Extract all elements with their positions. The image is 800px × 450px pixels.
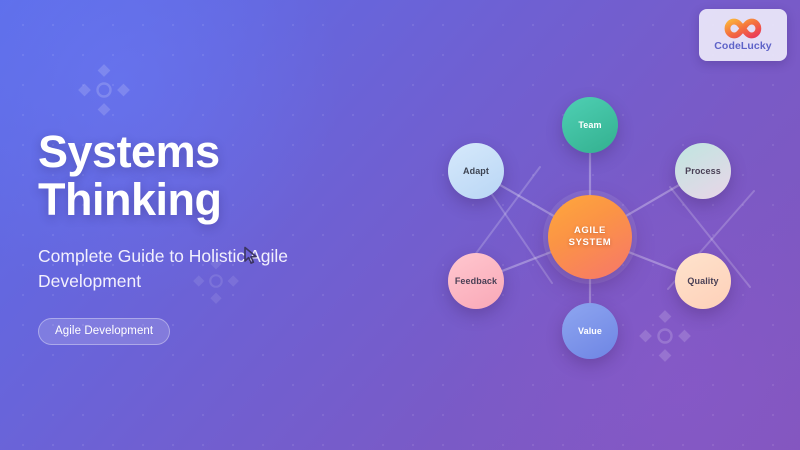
- topic-tag-badge[interactable]: Agile Development: [38, 318, 170, 345]
- node-label-value: Value: [578, 325, 602, 337]
- node-label-quality: Quality: [687, 275, 718, 287]
- diagram-node-team[interactable]: Team: [562, 97, 618, 153]
- node-label-hub: AGILESYSTEM: [569, 225, 612, 249]
- hub-label-line-1: AGILE: [574, 225, 606, 236]
- brand-name: CodeLucky: [714, 40, 772, 52]
- diagram-node-adapt[interactable]: Adapt: [448, 143, 504, 199]
- node-label-process: Process: [685, 165, 721, 177]
- infinity-icon: [723, 18, 763, 39]
- node-label-adapt: Adapt: [463, 165, 489, 177]
- diamond-cluster-icon-left: [78, 64, 130, 116]
- diagram-node-quality[interactable]: Quality: [675, 253, 731, 309]
- diagram-node-value[interactable]: Value: [562, 303, 618, 359]
- hero-text-block: Systems Thinking Complete Guide to Holis…: [38, 128, 368, 345]
- agile-system-diagram: Adapt Team Process Quality Value Feedbac…: [420, 75, 780, 385]
- headline-line-1: Systems: [38, 126, 220, 177]
- mouse-cursor-icon: [243, 246, 259, 266]
- node-label-feedback: Feedback: [455, 275, 497, 287]
- brand-logo[interactable]: CodeLucky: [699, 9, 787, 61]
- slide-canvas: Systems Thinking Complete Guide to Holis…: [0, 0, 800, 450]
- hub-label-line-2: SYSTEM: [569, 237, 612, 248]
- page-title: Systems Thinking: [38, 128, 368, 224]
- hero-subtitle: Complete Guide to Holistic Agile Develop…: [38, 244, 338, 294]
- diagram-node-feedback[interactable]: Feedback: [448, 253, 504, 309]
- headline-line-2: Thinking: [38, 176, 368, 224]
- diagram-node-process[interactable]: Process: [675, 143, 731, 199]
- node-label-team: Team: [578, 119, 601, 131]
- diagram-node-hub-agile-system[interactable]: AGILESYSTEM: [548, 195, 632, 279]
